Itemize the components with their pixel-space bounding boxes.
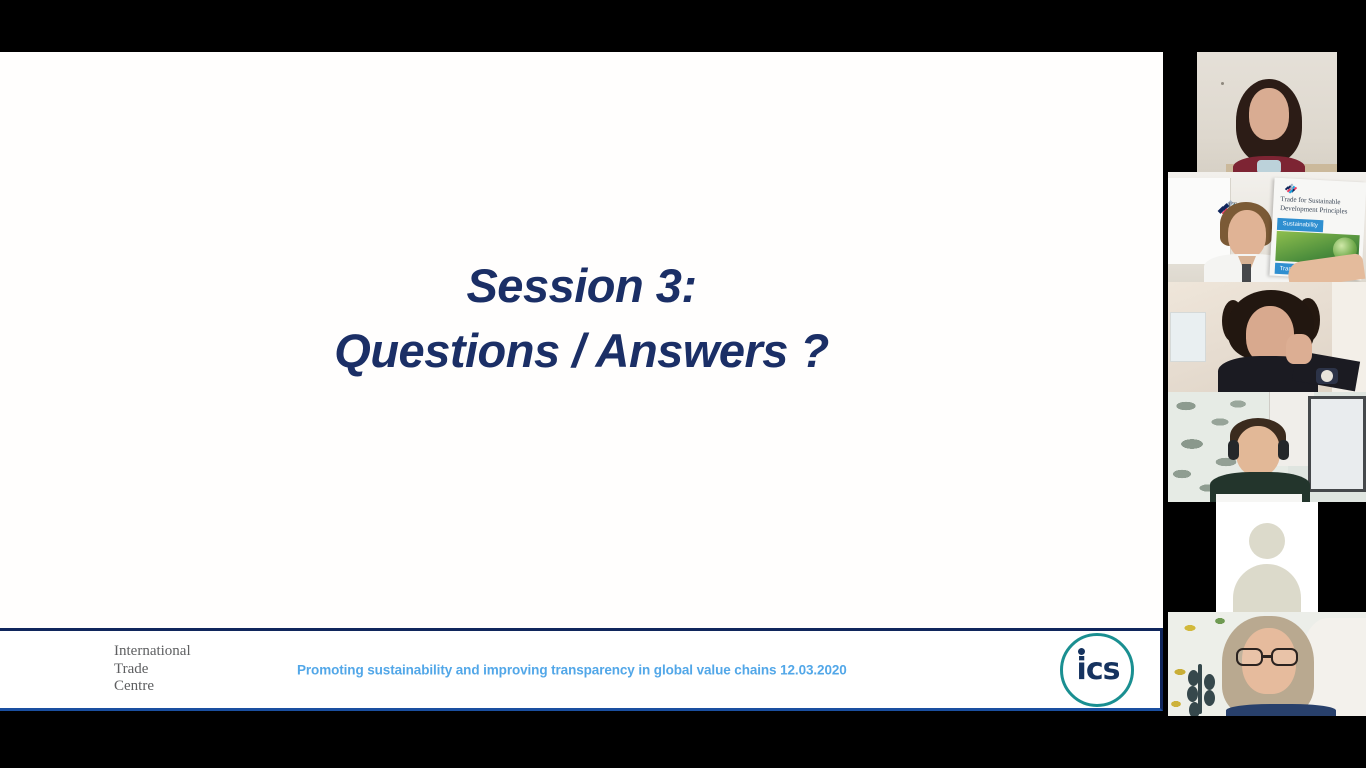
itc-diamond-logo-icon [46, 640, 104, 700]
slide-content-area: Session 3: Questions / Answers ? [0, 52, 1163, 626]
participant-filmstrip[interactable]: ITC Trade for Sustainable Development Pr… [1168, 52, 1366, 716]
itc-logo-text: International Trade Centre [114, 643, 191, 696]
slide-title-line-2: Questions / Answers ? [334, 319, 828, 384]
headset-icon [1228, 440, 1239, 460]
participant-video-6[interactable] [1168, 612, 1366, 716]
ics-logo-text: ics [1077, 652, 1120, 687]
footer-tagline: Promoting sustainability and improving t… [297, 662, 847, 677]
video-frame-2: ITC Trade for Sustainable Development Pr… [1168, 172, 1366, 282]
brochure-title: Trade for Sustainable Development Princi… [1280, 195, 1361, 217]
itc-name-line-2: Trade [114, 661, 191, 679]
brochure-band-1: Sustainability [1277, 218, 1324, 232]
participant-video-1[interactable] [1168, 52, 1366, 172]
ics-circle-logo-icon: ics [1060, 633, 1134, 707]
itc-name-line-1: International [114, 643, 191, 661]
itc-name-line-3: Centre [114, 678, 191, 696]
itc-logo: International Trade Centre [46, 640, 191, 700]
eyeglasses-icon [1236, 648, 1302, 666]
slide-footer: International Trade Centre Promoting sus… [0, 628, 1163, 711]
video-frame-1 [1197, 52, 1337, 172]
participant-video-2[interactable]: ITC Trade for Sustainable Development Pr… [1168, 172, 1366, 282]
itc-logo-on-brochure-icon [1282, 183, 1300, 193]
avatar-placeholder-icon [1249, 523, 1285, 559]
video-frame-3 [1168, 282, 1366, 392]
slide-title: Session 3: Questions / Answers ? [334, 254, 828, 384]
video-frame-6 [1168, 612, 1366, 716]
participant-video-4[interactable] [1168, 392, 1366, 502]
slide-title-line-1: Session 3: [334, 254, 828, 319]
participant-video-3[interactable] [1168, 282, 1366, 392]
meeting-screen: Session 3: Questions / Answers ? Interna… [0, 0, 1366, 768]
shared-slide[interactable]: Session 3: Questions / Answers ? Interna… [0, 52, 1163, 711]
participant-video-5[interactable] [1168, 502, 1366, 612]
video-frame-5 [1216, 502, 1318, 612]
video-frame-4 [1168, 392, 1366, 502]
